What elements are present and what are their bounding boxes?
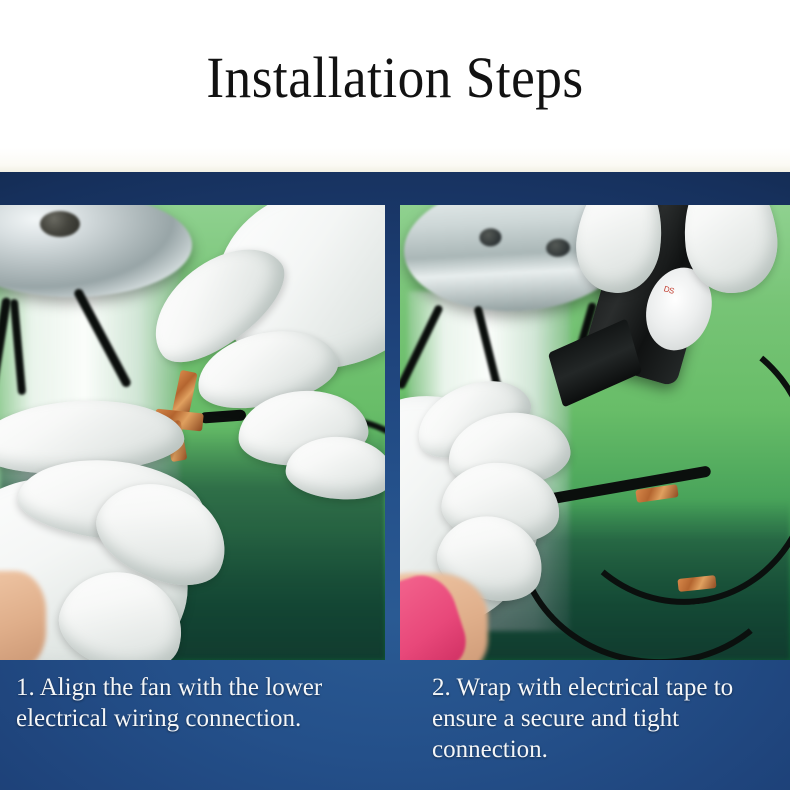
header-band: Installation Steps (0, 0, 790, 172)
tape-core-label: DS (663, 284, 675, 295)
mounting-hole-left (479, 228, 502, 247)
step-1-photo (0, 205, 385, 660)
step-2-scene: DS (400, 205, 790, 660)
page-title: Installation Steps (32, 46, 759, 110)
step-1-caption: 1. Align the fan with the lower electric… (16, 672, 386, 734)
captions-row: 1. Align the fan with the lower electric… (0, 660, 790, 790)
mounting-screw (40, 211, 80, 237)
step-1-scene (0, 205, 385, 660)
mounting-hole-right (546, 238, 571, 257)
step-2-photo: DS (400, 205, 790, 660)
step-2-caption: 2. Wrap with electrical tape to ensure a… (432, 672, 790, 765)
installation-steps-infographic: Installation Steps (0, 0, 790, 790)
photo-row: DS (0, 205, 790, 660)
